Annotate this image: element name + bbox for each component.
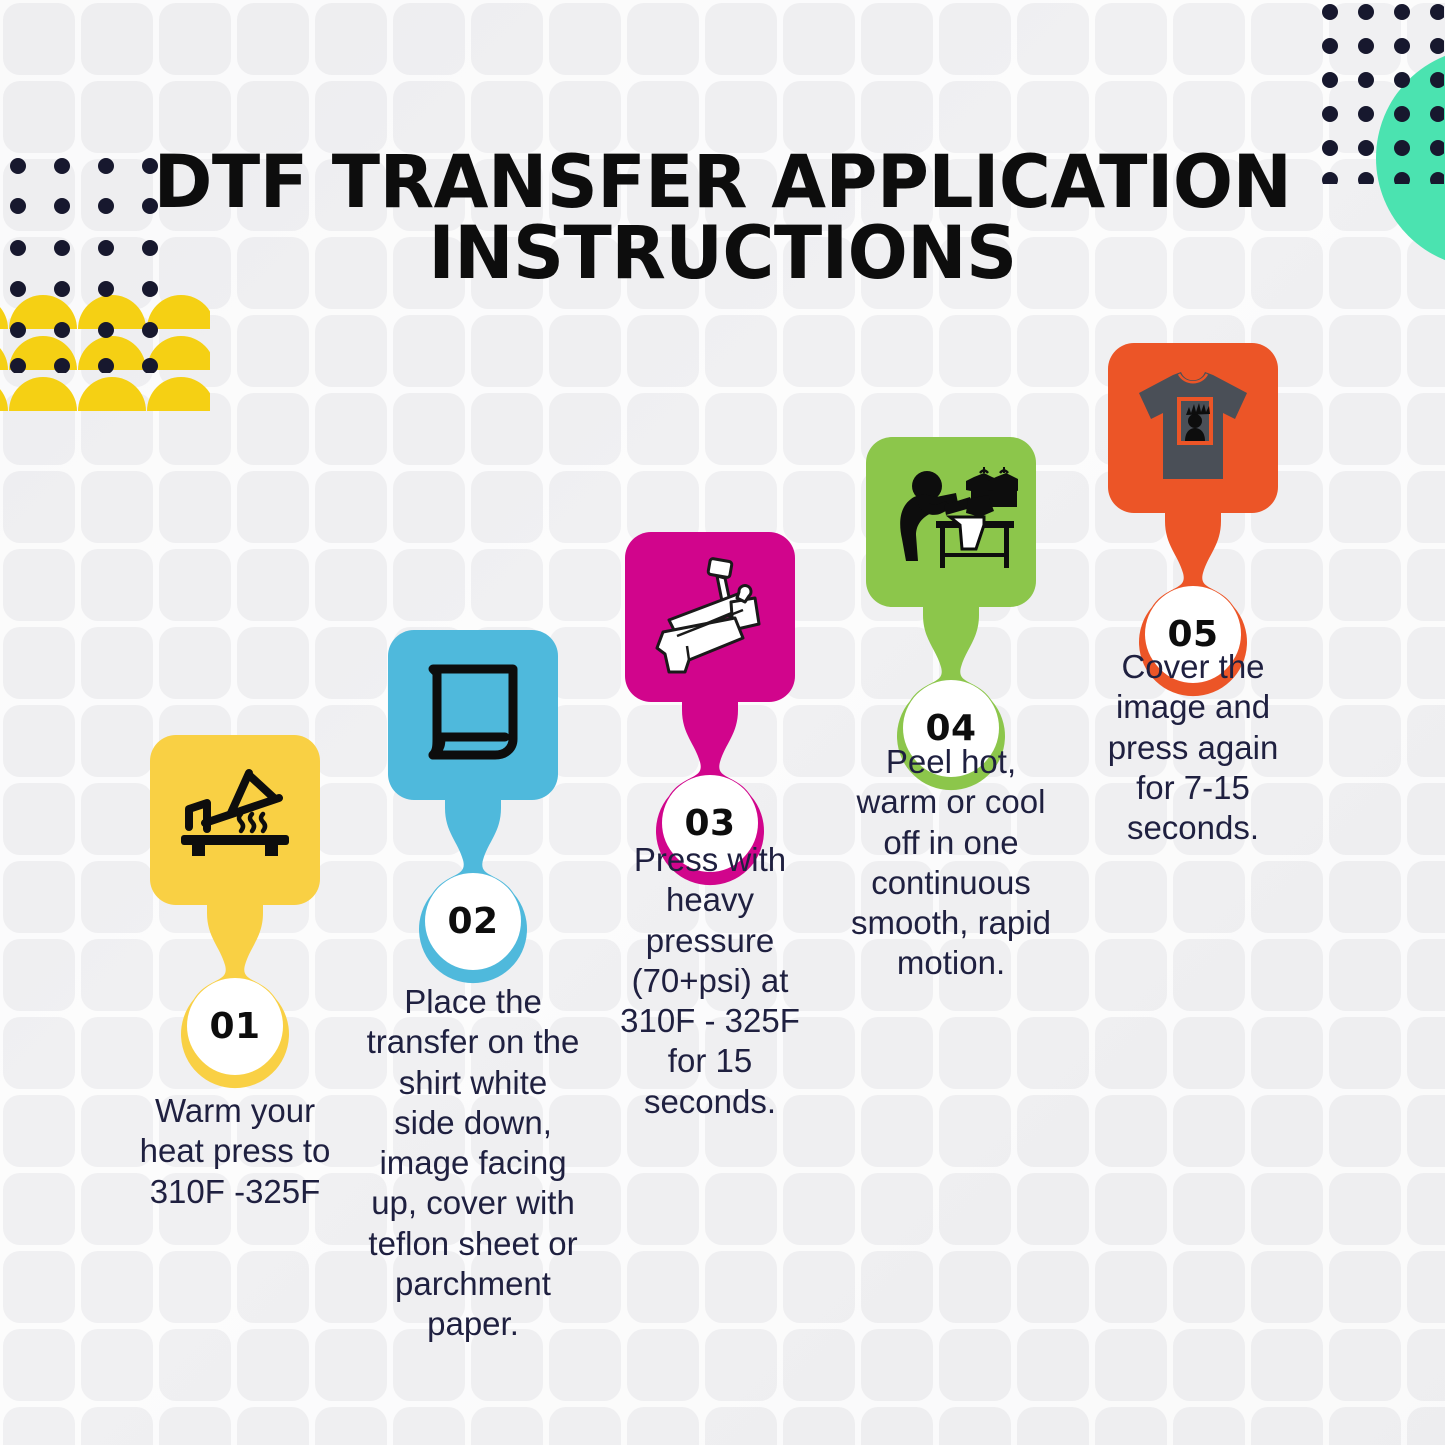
transfer-sheet-icon — [417, 659, 529, 771]
step-04-caption: Peel hot, warm or cool off in one contin… — [850, 742, 1052, 984]
step-05-caption: Cover the image and press again for 7-15… — [1092, 647, 1294, 848]
heat-press-open-icon — [175, 765, 295, 875]
step-01-number: 01 — [187, 978, 283, 1074]
step-04-icon-card[interactable] — [866, 437, 1036, 607]
printed-tshirt-icon — [1129, 367, 1257, 489]
step-02-number: 02 — [425, 873, 521, 969]
step-01-icon-card[interactable] — [150, 735, 320, 905]
step-02-icon-card[interactable] — [388, 630, 558, 800]
step-03-caption: Press with heavy pressure (70+psi) at 31… — [609, 840, 811, 1122]
step-01-caption: Warm your heat press to 310F -325F — [132, 1091, 338, 1212]
person-pressing-shirt-icon — [884, 461, 1018, 583]
step-02-caption: Place the transfer on the shirt white si… — [365, 982, 581, 1344]
heat-press-machine-icon — [647, 554, 773, 680]
step-05-icon-card[interactable] — [1108, 343, 1278, 513]
step-03-icon-card[interactable] — [625, 532, 795, 702]
steps-container: 01 Warm your heat press to 310F -325F 02… — [0, 0, 1445, 1445]
